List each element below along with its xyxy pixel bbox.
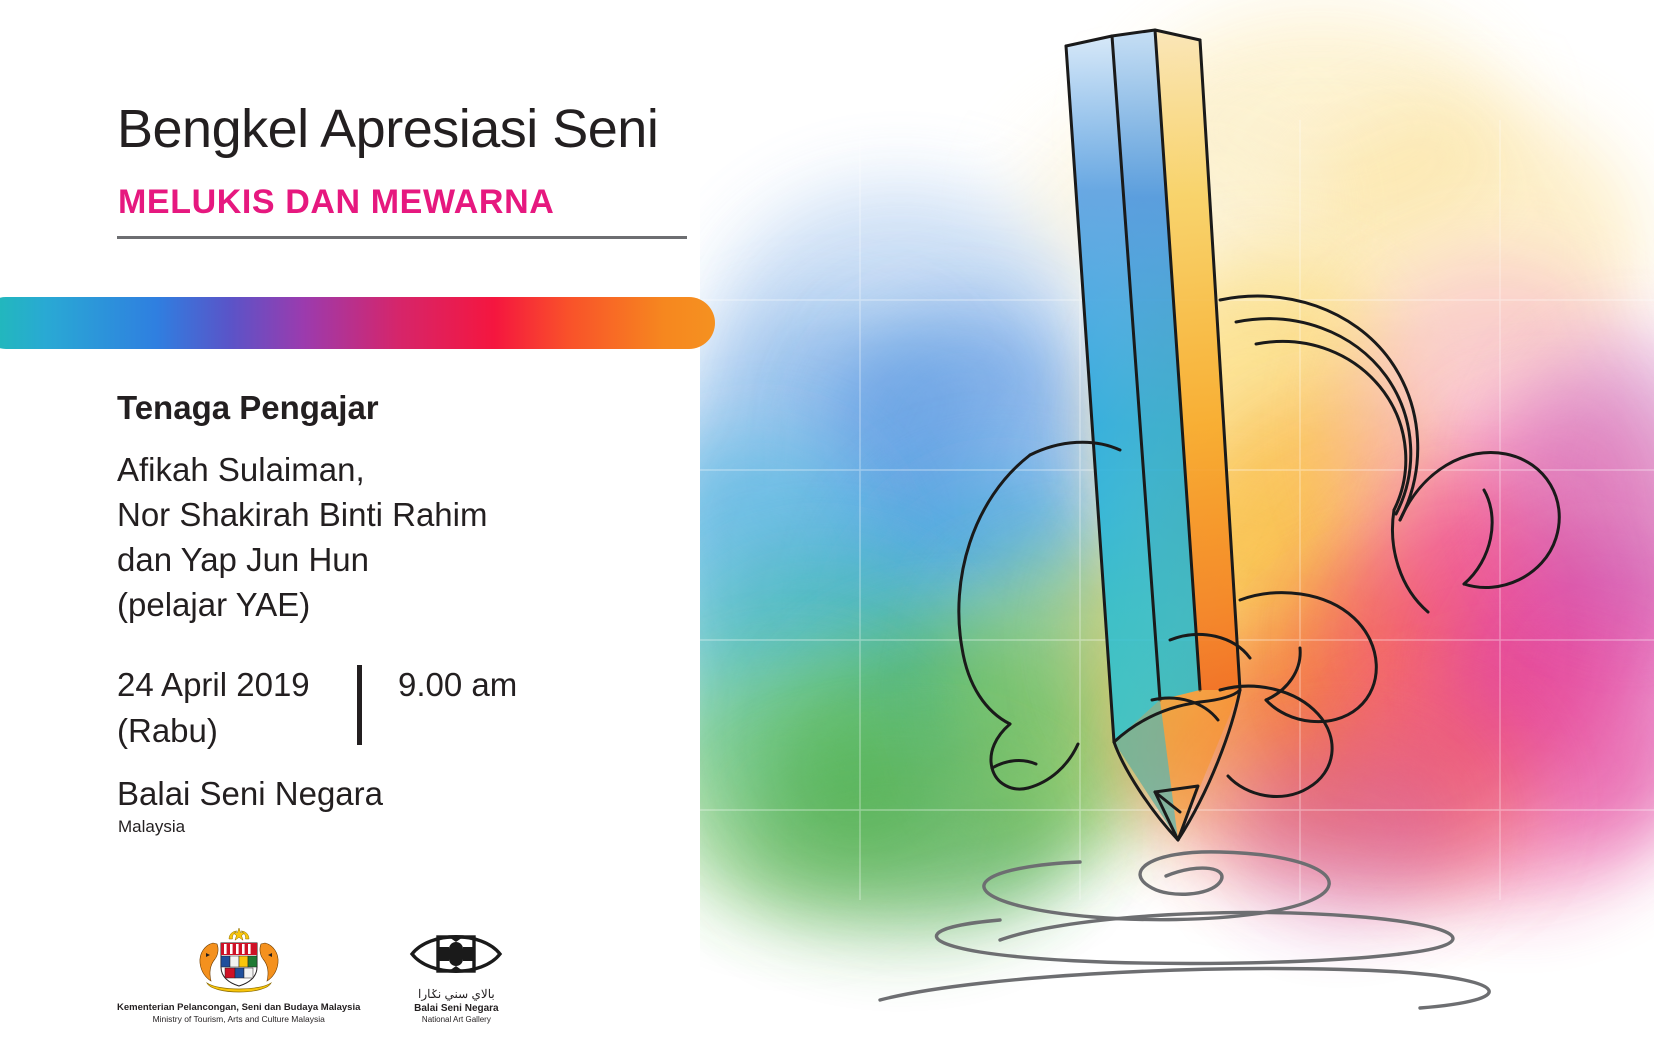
instructor-name: Nor Shakirah Binti Rahim [117, 492, 487, 537]
instructors-heading: Tenaga Pengajar [117, 389, 379, 427]
event-date-value: 24 April 2019 [117, 662, 357, 708]
national-art-gallery-emblem-icon [408, 925, 504, 983]
artwork-hand-with-pencil [700, 0, 1654, 1054]
logo-row: Kementerian Pelancongan, Seni dan Budaya… [117, 925, 504, 1024]
instructor-affiliation: (pelajar YAE) [117, 582, 487, 627]
venue-name: Balai Seni Negara [117, 775, 383, 813]
event-day-value: (Rabu) [117, 708, 357, 754]
gradient-accent-bar [0, 297, 715, 349]
instructor-name: Afikah Sulaiman, [117, 447, 487, 492]
venue-country: Malaysia [118, 817, 185, 837]
page-subtitle: MELUKIS DAN MEWARNA [118, 183, 554, 222]
gallery-caption-en: National Art Gallery [408, 1015, 504, 1024]
event-time: 9.00 am [398, 662, 517, 708]
instructors-list: Afikah Sulaiman, Nor Shakirah Binti Rahi… [117, 447, 487, 627]
schedule-divider [357, 665, 362, 745]
ministry-logo-unit: Kementerian Pelancongan, Seni dan Budaya… [117, 925, 360, 1024]
gallery-caption-ar: بالاي سني نݢارا [408, 987, 504, 1001]
poster-canvas: Bengkel Apresiasi Seni MELUKIS DAN MEWAR… [0, 0, 1654, 1054]
instructor-name: dan Yap Jun Hun [117, 537, 487, 582]
ministry-caption-ms: Kementerian Pelancongan, Seni dan Budaya… [117, 1002, 360, 1013]
malaysia-coat-of-arms-icon [179, 925, 299, 999]
title-divider [117, 236, 687, 239]
gallery-logo-unit: بالاي سني نݢارا Balai Seni Negara Nation… [408, 925, 504, 1024]
gallery-caption-ms: Balai Seni Negara [408, 1003, 504, 1014]
event-date: 24 April 2019 (Rabu) [117, 662, 357, 754]
page-title: Bengkel Apresiasi Seni [117, 98, 658, 160]
schedule-block: 24 April 2019 (Rabu) 9.00 am [117, 662, 517, 754]
ministry-caption-en: Ministry of Tourism, Arts and Culture Ma… [117, 1014, 360, 1024]
